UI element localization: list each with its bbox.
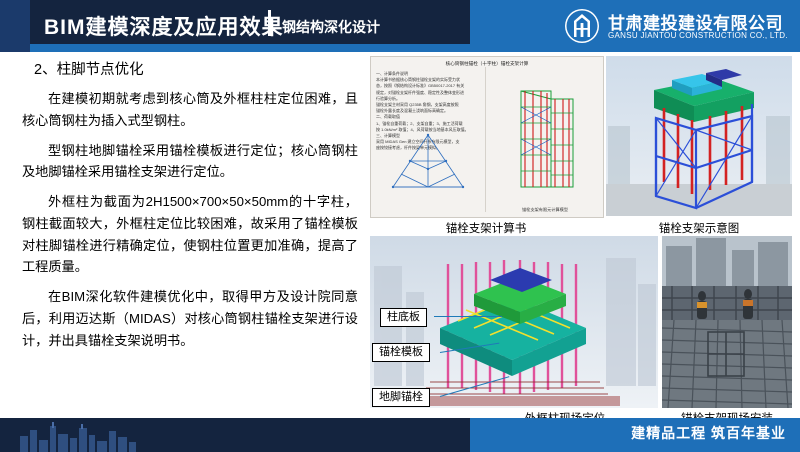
header-subtitle: 钢结构深化设计 [282, 17, 380, 37]
caption-calc-sheet: 锚栓支架计算书 [370, 220, 602, 236]
figure-site-photo [662, 236, 792, 408]
callout-anchor-template: 锚栓模板 [372, 343, 430, 362]
figure-anchor-frame-schematic: 柱底板 锚栓支架 地脚锚栓 [606, 56, 792, 216]
leader-line-base-plate [434, 316, 502, 317]
paragraph-1: 在建模初期就考虑到核心筒及外框柱柱定位困难，且核心筒钢柱为插入式型钢柱。 [22, 88, 358, 132]
header-accent-bar [30, 44, 470, 52]
calc-sheet-divider [485, 67, 486, 212]
fe-model-icon [495, 77, 595, 205]
caption-schematic: 锚栓支架示意图 [606, 220, 792, 236]
paragraph-3: 外框柱为截面为2H1500×700×50×50mm的十字柱，钢柱截面较大，外框柱… [22, 191, 358, 278]
company-logo-icon [564, 8, 600, 44]
city-skyline-icon [18, 422, 138, 452]
truss-diagram-icon [385, 129, 471, 193]
calc-model-label: 锚栓支架有限元计算模型 [495, 207, 595, 213]
text-column: 2、柱脚节点优化 在建模初期就考虑到核心筒及外框柱柱定位困难，且核心筒钢柱为插入… [22, 58, 358, 360]
page-title: BIM建模深度及应用效果 [44, 11, 284, 41]
callout-anchor-bolt: 地脚锚栓 [372, 388, 430, 407]
footer-slogan: 建精品工程 筑百年基业 [631, 423, 786, 443]
anchor-frame-3d-icon [606, 56, 792, 216]
company-name-en: GANSU JIANTOU CONSTRUCTION CO., LTD. [608, 31, 788, 40]
calc-doc-title: 核心筒钢柱锚栓（十字柱）锚栓支架计算 [371, 61, 603, 67]
slide-root: BIM建模深度及应用效果 钢结构深化设计 甘肃建投建设有限公司 GANSU JI… [0, 0, 800, 452]
paragraph-2: 型钢柱地脚锚栓采用锚栓模板进行定位；核心筒钢柱及地脚锚栓采用锚栓支架进行定位。 [22, 140, 358, 184]
figure-calc-sheet: 核心筒钢柱锚栓（十字柱）锚栓支架计算 一、计算条件说明 本计算书依据核心筒钢柱锚… [370, 56, 604, 218]
slide-header: BIM建模深度及应用效果 钢结构深化设计 甘肃建投建设有限公司 GANSU JI… [0, 0, 800, 52]
section-title: 2、柱脚节点优化 [34, 58, 358, 79]
header-divider [268, 10, 271, 36]
site-installation-photo-icon [662, 236, 792, 408]
paragraph-4: 在BIM深化软件建模优化中，取得甲方及设计院同意后，利用迈达斯（MIDAS）对核… [22, 286, 358, 351]
slide-footer: 建精品工程 筑百年基业 [0, 418, 800, 452]
header-left-bar [0, 0, 30, 52]
callout-base-plate: 柱底板 [380, 308, 427, 327]
